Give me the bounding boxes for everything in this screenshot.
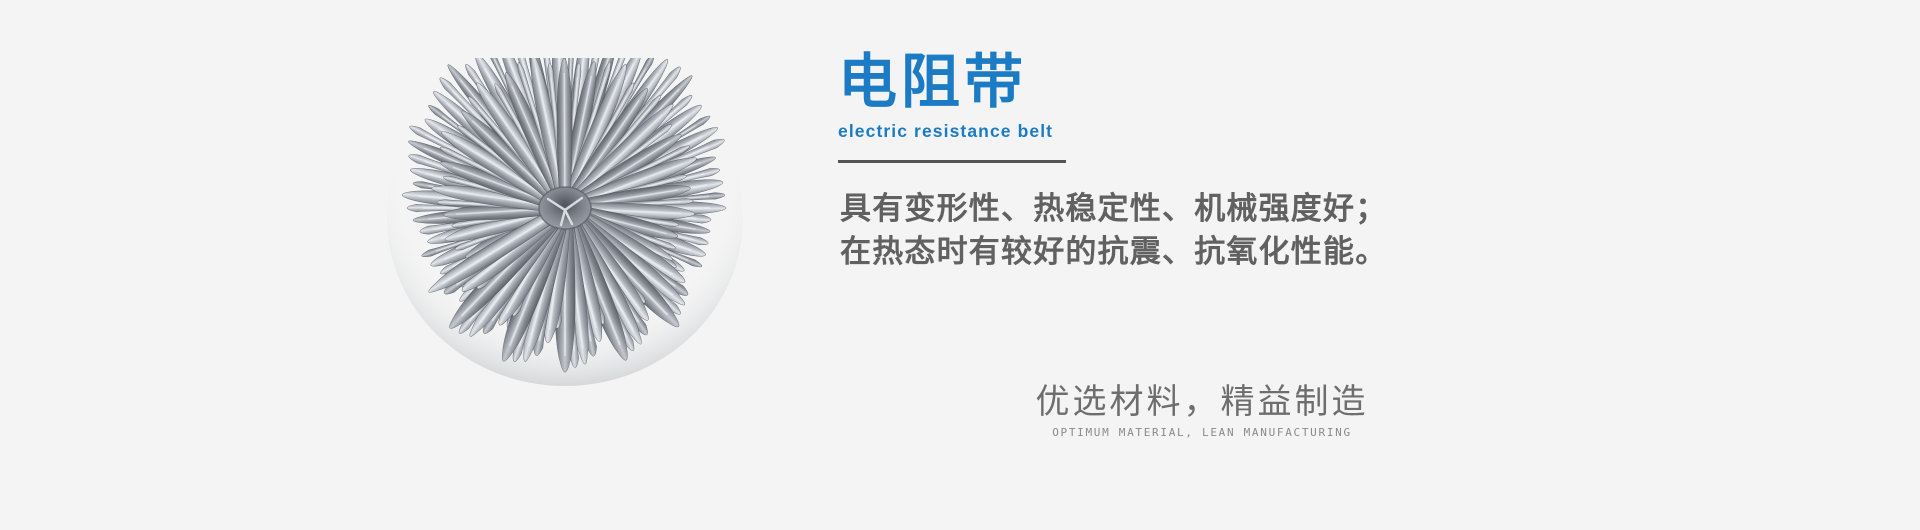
tagline-block: 优选材料，精益制造 OPTIMUM MATERIAL, LEAN MANUFAC… [942, 382, 1462, 439]
tagline-chinese: 优选材料，精益制造 [942, 382, 1462, 422]
description-block: 具有变形性、热稳定性、机械强度好； 在热态时有较好的抗震、抗氧化性能。 [840, 188, 1540, 274]
product-image [355, 58, 775, 438]
page-subtitle: electric resistance belt [838, 121, 1478, 142]
product-banner: 电阻带 electric resistance belt 具有变形性、热稳定性、… [0, 0, 1920, 530]
description-line: 具有变形性、热稳定性、机械强度好； [840, 188, 1540, 231]
title-block: 电阻带 electric resistance belt [838, 52, 1478, 163]
description-line: 在热态时有较好的抗震、抗氧化性能。 [840, 231, 1540, 274]
title-divider [838, 160, 1066, 163]
resistance-belt-burst-icon [355, 58, 775, 438]
text-column: 电阻带 electric resistance belt 具有变形性、热稳定性、… [838, 0, 1818, 530]
page-title: 电阻带 [838, 52, 1478, 112]
tagline-english: OPTIMUM MATERIAL, LEAN MANUFACTURING [942, 426, 1462, 439]
